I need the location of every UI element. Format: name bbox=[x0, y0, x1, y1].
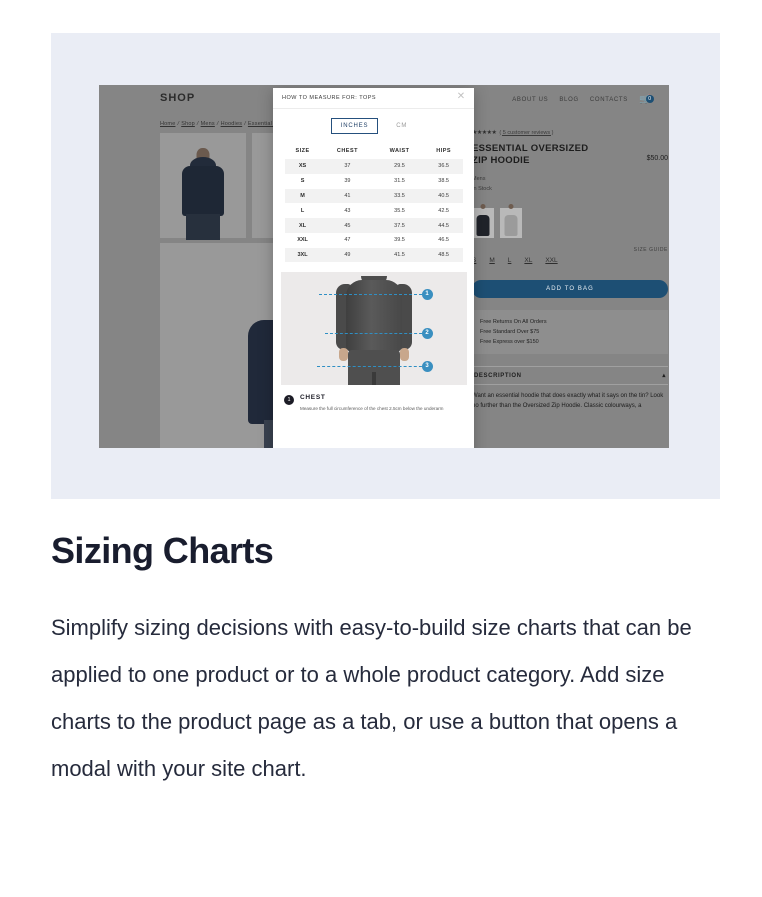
description-label: DESCRIPTION bbox=[474, 373, 522, 379]
figure-torso bbox=[346, 280, 402, 352]
size-chart-table: SIZE CHEST WAIST HIPS XS 37 29.5 36.5 S bbox=[285, 143, 463, 262]
nav-item-blog[interactable]: BLOG bbox=[559, 97, 578, 103]
table-row: XS 37 29.5 36.5 bbox=[285, 159, 463, 174]
cell-hips: 42.5 bbox=[425, 203, 463, 218]
measure-line-chest bbox=[319, 294, 427, 295]
modal-header: HOW TO MEASURE FOR: TOPS ✕ bbox=[273, 88, 474, 109]
product-price: $50.00 bbox=[647, 155, 668, 162]
size-guide-modal: HOW TO MEASURE FOR: TOPS ✕ INCHES CM SIZ… bbox=[273, 88, 474, 448]
diagram-figure bbox=[337, 276, 411, 385]
size-option-l[interactable]: L bbox=[508, 257, 512, 264]
size-option-xl[interactable]: XL bbox=[524, 257, 532, 264]
cell-hips: 44.5 bbox=[425, 218, 463, 233]
description-body: Want an essential hoodie that does exact… bbox=[472, 391, 668, 411]
modal-title: HOW TO MEASURE FOR: TOPS bbox=[282, 95, 376, 101]
close-icon[interactable]: ✕ bbox=[456, 92, 466, 102]
cell-size: XS bbox=[285, 159, 321, 174]
customer-reviews-link[interactable]: ( 5 customer reviews ) bbox=[499, 130, 553, 136]
model-body bbox=[182, 166, 224, 216]
add-to-bag-button[interactable]: ADD TO BAG bbox=[472, 280, 668, 298]
article-section: Sizing Charts Simplify sizing decisions … bbox=[51, 530, 721, 792]
measurement-legend: 1 CHEST Measure the full circumference o… bbox=[284, 394, 474, 412]
perk-standard: Free Standard Over $75 bbox=[480, 327, 660, 337]
column-header-waist: WAIST bbox=[374, 143, 425, 159]
swatch-model-body bbox=[477, 215, 490, 236]
cell-chest: 49 bbox=[321, 248, 375, 263]
model-legs bbox=[186, 214, 220, 240]
cell-waist: 39.5 bbox=[374, 233, 425, 248]
size-options: S M L XL XXL bbox=[472, 257, 668, 264]
measure-marker-1: 1 bbox=[422, 289, 433, 300]
column-header-hips: HIPS bbox=[425, 143, 463, 159]
cell-hips: 38.5 bbox=[425, 174, 463, 189]
cell-waist: 31.5 bbox=[374, 174, 425, 189]
cell-chest: 41 bbox=[321, 189, 375, 204]
breadcrumb-item-home[interactable]: Home bbox=[160, 121, 175, 127]
measure-marker-2: 2 bbox=[422, 328, 433, 339]
size-option-xxl[interactable]: XXL bbox=[545, 257, 557, 264]
cell-hips: 40.5 bbox=[425, 189, 463, 204]
size-guide-link[interactable]: SIZE GUIDE bbox=[472, 247, 668, 253]
table-row: 3XL 49 41.5 48.5 bbox=[285, 248, 463, 263]
description-accordion-header[interactable]: DESCRIPTION ▴ bbox=[472, 366, 668, 385]
swatch-model-head bbox=[509, 204, 514, 209]
tab-cm[interactable]: CM bbox=[387, 119, 416, 133]
product-meta: Mens In Stock bbox=[472, 174, 668, 194]
swatch-model-head bbox=[481, 204, 486, 209]
figure-hand-left bbox=[339, 348, 348, 361]
chevron-up-icon: ▴ bbox=[662, 372, 666, 379]
embedded-store-screenshot: SHOP ABOUT US BLOG CONTACTS 🛒 0 Home/Sho… bbox=[99, 85, 669, 448]
rating-row: ★★★★★ ( 5 customer reviews ) bbox=[472, 129, 668, 136]
legend-badge-1: 1 bbox=[284, 395, 294, 405]
cell-size: XL bbox=[285, 218, 321, 233]
table-row: XXL 47 39.5 46.5 bbox=[285, 233, 463, 248]
nav-item-contacts[interactable]: CONTACTS bbox=[590, 97, 628, 103]
size-chart-body: XS 37 29.5 36.5 S 39 31.5 38.5 M 41 bbox=[285, 159, 463, 262]
model-figure-back bbox=[177, 146, 229, 238]
product-category: Mens bbox=[472, 174, 668, 184]
cell-waist: 33.5 bbox=[374, 189, 425, 204]
legend-title-chest: CHEST bbox=[300, 394, 444, 401]
star-rating-icon: ★★★★★ bbox=[472, 129, 496, 136]
table-row: XL 45 37.5 44.5 bbox=[285, 218, 463, 233]
legend-description: Measure the full circumference of the ch… bbox=[300, 405, 444, 412]
measure-line-hips bbox=[317, 366, 427, 367]
product-title: ESSENTIAL OVERSIZED ZIP HOODIE bbox=[472, 143, 592, 167]
cell-waist: 29.5 bbox=[374, 159, 425, 174]
swatch-grey[interactable] bbox=[500, 208, 522, 238]
cell-hips: 48.5 bbox=[425, 248, 463, 263]
cart-button[interactable]: 🛒 0 bbox=[639, 94, 655, 105]
cell-hips: 46.5 bbox=[425, 233, 463, 248]
table-header-row: SIZE CHEST WAIST HIPS bbox=[285, 143, 463, 159]
cell-size: 3XL bbox=[285, 248, 321, 263]
cart-count-badge: 0 bbox=[646, 95, 654, 103]
swatch-black[interactable] bbox=[472, 208, 494, 238]
product-info-column: ★★★★★ ( 5 customer reviews ) ESSENTIAL O… bbox=[472, 129, 668, 411]
shipping-perks: Free Returns On All Orders Free Standard… bbox=[472, 310, 668, 354]
cell-size: XXL bbox=[285, 233, 321, 248]
store-logo[interactable]: SHOP bbox=[160, 92, 195, 104]
breadcrumb-item-mens[interactable]: Mens bbox=[201, 121, 215, 127]
measure-marker-3: 3 bbox=[422, 361, 433, 372]
cell-hips: 36.5 bbox=[425, 159, 463, 174]
tab-inches[interactable]: INCHES bbox=[331, 118, 378, 134]
cell-waist: 35.5 bbox=[374, 203, 425, 218]
showcase-panel: SHOP ABOUT US BLOG CONTACTS 🛒 0 Home/Sho… bbox=[51, 33, 720, 499]
cell-chest: 45 bbox=[321, 218, 375, 233]
size-option-m[interactable]: M bbox=[489, 257, 494, 264]
product-stock: In Stock bbox=[472, 184, 668, 194]
measurement-diagram: 1 2 3 bbox=[281, 272, 467, 385]
cell-size: S bbox=[285, 174, 321, 189]
cell-waist: 41.5 bbox=[374, 248, 425, 263]
page-title: Sizing Charts bbox=[51, 530, 721, 572]
product-image-1[interactable] bbox=[160, 133, 246, 238]
cell-waist: 37.5 bbox=[374, 218, 425, 233]
page-description: Simplify sizing decisions with easy-to-b… bbox=[51, 604, 721, 792]
colour-swatches bbox=[472, 208, 668, 238]
breadcrumb-item-hoodies[interactable]: Hoodies bbox=[221, 121, 243, 127]
figure-hand-right bbox=[400, 348, 409, 361]
column-header-size: SIZE bbox=[285, 143, 321, 159]
table-row: M 41 33.5 40.5 bbox=[285, 189, 463, 204]
swatch-model-body bbox=[505, 215, 518, 236]
breadcrumb-item-shop[interactable]: Shop bbox=[181, 121, 195, 127]
cell-chest: 37 bbox=[321, 159, 375, 174]
perk-returns: Free Returns On All Orders bbox=[480, 317, 660, 327]
cell-size: M bbox=[285, 189, 321, 204]
cell-chest: 47 bbox=[321, 233, 375, 248]
table-row: L 43 35.5 42.5 bbox=[285, 203, 463, 218]
perk-express: Free Express over $150 bbox=[480, 337, 660, 347]
column-header-chest: CHEST bbox=[321, 143, 375, 159]
table-row: S 39 31.5 38.5 bbox=[285, 174, 463, 189]
figure-leg-gap bbox=[372, 372, 376, 385]
cell-chest: 39 bbox=[321, 174, 375, 189]
cell-size: L bbox=[285, 203, 321, 218]
store-top-nav: ABOUT US BLOG CONTACTS 🛒 0 bbox=[512, 94, 655, 105]
cell-chest: 43 bbox=[321, 203, 375, 218]
measure-line-waist bbox=[325, 333, 427, 334]
nav-item-about-us[interactable]: ABOUT US bbox=[512, 97, 548, 103]
unit-toggle: INCHES CM bbox=[273, 118, 474, 134]
